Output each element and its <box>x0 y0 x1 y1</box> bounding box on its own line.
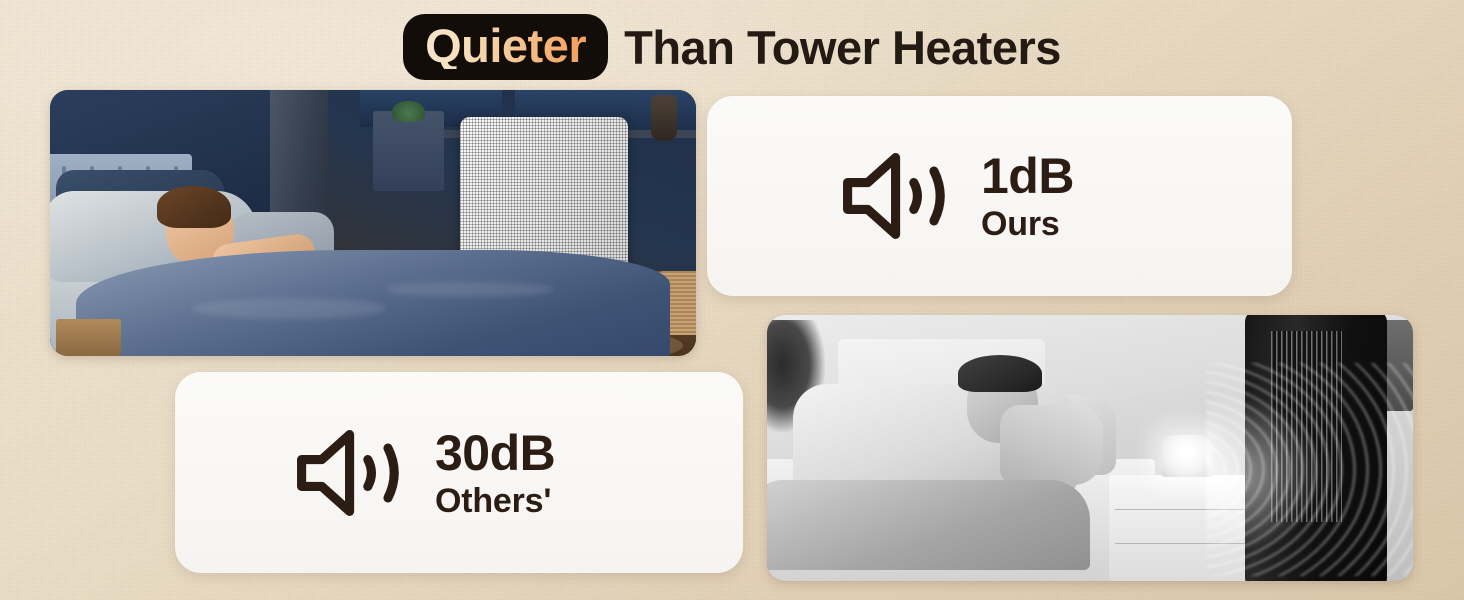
potted-plant <box>392 101 424 122</box>
page-title: Quieter Than Tower Heaters <box>0 14 1464 80</box>
stat-card-others: 30dB Others' <box>175 372 743 573</box>
airflow-streams <box>1206 363 1413 576</box>
quilt <box>767 480 1090 570</box>
page-title-rest: Than Tower Heaters <box>624 24 1061 71</box>
nightstand <box>56 319 121 356</box>
man-arm-covering-ear <box>1000 405 1103 485</box>
stat-card-others-content: 30dB Others' <box>292 425 555 521</box>
bedside-lamp <box>1161 435 1213 478</box>
stat-value: 30dB <box>435 428 555 478</box>
stat-card-ours-content: 1dB Ours <box>838 148 1074 244</box>
shelf-unit <box>373 111 444 191</box>
child-bedroom-scene <box>50 90 696 356</box>
photo-man-awake-with-tower-heater <box>767 315 1413 581</box>
stat-label: Ours <box>981 207 1074 241</box>
stat-label: Others' <box>435 484 555 518</box>
stat-value: 1dB <box>981 151 1074 201</box>
quieter-badge-label: Quieter <box>425 22 586 69</box>
man-bedroom-scene <box>767 315 1413 581</box>
speaker-wave-icon <box>292 425 411 521</box>
quieter-badge: Quieter <box>403 14 608 80</box>
stat-card-ours-text: 1dB Ours <box>981 151 1074 241</box>
stat-card-others-text: 30dB Others' <box>435 428 555 518</box>
blanket-fold-a <box>192 298 386 319</box>
stat-card-ours: 1dB Ours <box>707 96 1292 296</box>
vase <box>651 95 677 140</box>
man-hair <box>958 355 1042 392</box>
speaker-wave-icon <box>838 148 957 244</box>
quieter-comparison-banner: Quieter Than Tower Heaters <box>0 0 1464 600</box>
child-hair <box>157 186 231 229</box>
photo-child-sleeping-with-panel-heater <box>50 90 696 356</box>
